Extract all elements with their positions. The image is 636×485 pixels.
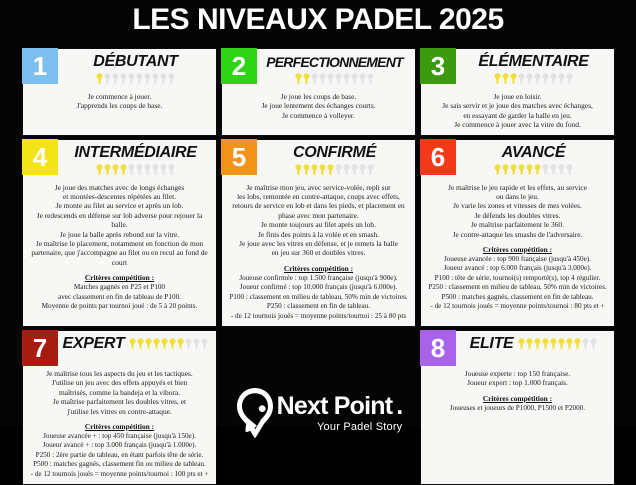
criteria-line: P500 : matches gagnés, classement en fin… xyxy=(426,293,609,302)
level-number-badge: 7 xyxy=(22,330,58,366)
description-line: Joueuse experte : top 150 française. xyxy=(426,369,609,378)
logo-text: Next Point. Your Padel Story xyxy=(277,394,403,433)
card-title-block: EXPERT xyxy=(58,335,211,353)
card-header: 6 AVANCÉ xyxy=(426,144,609,180)
level-number-badge: 5 xyxy=(221,139,257,175)
description-line: Je finis des points à la volée et en sma… xyxy=(227,230,410,239)
card-header: 3 ÉLÉMENTAIRE xyxy=(426,53,609,89)
level-name: ÉLÉMENTAIRE xyxy=(458,53,609,71)
card-title-block: ÉLÉMENTAIRE xyxy=(456,53,609,89)
criteria-title: Critères compétition : xyxy=(28,422,211,432)
card-header: 7 EXPERT xyxy=(28,335,211,366)
rating-pins-8 xyxy=(518,338,597,349)
level-description: Je joue en loisir.Je sais servir et je j… xyxy=(426,92,609,130)
criteria-line: - de 12 tournois joués = moyenne points/… xyxy=(227,312,410,321)
description-line: Je défends les doubles vitres. xyxy=(426,211,609,220)
rating-pins-3 xyxy=(494,73,573,84)
page-title: LES NIVEAUX PADEL 2025 xyxy=(0,2,636,38)
description-line: en jeu sur 360 et doubles vitres. xyxy=(227,248,410,257)
brand-logo: Next Point. Your Padel Story xyxy=(221,330,416,485)
level-description: Joueuse experte : top 150 française.Joue… xyxy=(426,369,609,388)
description-line: Je maîtrise tous les aspects du jeu et l… xyxy=(28,369,211,378)
description-line: Je maîtrise le jeu rapide et les effets,… xyxy=(426,183,609,192)
criteria-line: Joueuse avancée + : top 450 française (j… xyxy=(28,432,211,441)
logo-name: Next Point xyxy=(277,392,393,420)
card-title-block: DÉBUTANT xyxy=(58,53,211,89)
criteria-title: Critères compétition : xyxy=(28,273,211,283)
criteria-line: P250 : 2ère partie de tableau, en étant … xyxy=(28,451,211,460)
title-rating-row: ELITE xyxy=(458,335,609,353)
criteria-line: Joueur confirmé : top 10.000 français (j… xyxy=(227,283,410,292)
card-title-block: AVANCÉ xyxy=(456,144,609,180)
level-description: Je maîtrise tous les aspects du jeu et l… xyxy=(28,369,211,416)
padel-racket-pin-icon xyxy=(235,387,275,439)
description-line: Je maîtrise mon jeu, avec service-volée,… xyxy=(227,183,410,192)
title-rating-row: EXPERT xyxy=(60,335,211,353)
criteria-line: Joueuse avancée : top 900 française (jus… xyxy=(426,255,609,264)
card-title-block: ELITE xyxy=(456,335,609,353)
description-line: Je maîtrise le placement, notamment en f… xyxy=(28,239,211,248)
criteria-line: Moyenne de points par tournoi joué : de … xyxy=(28,302,211,311)
level-name: PERFECTIONNEMENT xyxy=(259,53,410,71)
level-description: Je maîtrise le jeu rapide et les effets,… xyxy=(426,183,609,239)
description-line: phase avec mon partenaire. xyxy=(227,211,410,220)
level-name: ELITE xyxy=(470,335,514,353)
level-number-badge: 8 xyxy=(420,330,456,366)
rating-pins-2 xyxy=(295,73,374,84)
level-description: Je joue des matches avec de longs échang… xyxy=(28,183,211,268)
card-header: 4 INTERMÉDIAIRE xyxy=(28,144,211,180)
criteria-list: Joueuses et joueurs de P1000, P1500 et P… xyxy=(426,404,609,413)
description-line: Je varie les zones et vitesses de mes vo… xyxy=(426,201,609,210)
description-line: Je joue lentement des échanges courts. xyxy=(227,101,410,110)
level-card-8: 8 ELITE Joueuse experte : top 150 frança… xyxy=(420,330,615,485)
card-header: 5 CONFIRMÉ xyxy=(227,144,410,180)
description-line: partenaire, que j'accompagne au filet ou… xyxy=(28,248,211,257)
description-line: et montées-descentes répétées au filet. xyxy=(28,192,211,201)
description-line: Je maîtrise parfaitement les doubles vit… xyxy=(28,397,211,406)
description-line: Je monte au filet au service et après un… xyxy=(28,201,211,210)
level-card-3: 3 ÉLÉMENTAIRE Je joue en loisir.Je sais … xyxy=(420,48,615,136)
rating-pins-5 xyxy=(295,164,374,175)
level-name: EXPERT xyxy=(63,335,125,353)
criteria-line: avec classement en fin de tableau de P10… xyxy=(28,293,211,302)
description-line: J'utilise un jeu avec des effets appuyés… xyxy=(28,378,211,387)
criteria-title: Critères compétition : xyxy=(426,245,609,255)
card-header: 1 DÉBUTANT xyxy=(28,53,211,89)
criteria-line: P250 : classement en milieu de tableau, … xyxy=(426,283,609,292)
level-number-badge: 4 xyxy=(22,139,58,175)
description-line: Je joue avec les vitres en défense, et j… xyxy=(227,239,410,248)
description-line: j'utilise les vitres en contre-attaque. xyxy=(28,407,211,416)
criteria-line: Joueuse confirmée : top 1.500 française … xyxy=(227,274,410,283)
logo-dot: . xyxy=(396,392,402,420)
level-number-badge: 1 xyxy=(22,48,58,84)
level-description: Je maîtrise mon jeu, avec service-volée,… xyxy=(227,183,410,258)
card-header: 8 ELITE xyxy=(426,335,609,366)
level-card-6: 6 AVANCÉ Je maîtrise le jeu rapide et le… xyxy=(420,139,615,327)
level-name: CONFIRMÉ xyxy=(259,144,410,162)
description-line: Je commence à jouer. xyxy=(28,92,211,101)
description-line: Je redescends en défense sur lob adverse… xyxy=(28,211,211,230)
criteria-line: Matches gagnés en P25 et P100 xyxy=(28,283,211,292)
description-line: retours de service en lob et dans les pi… xyxy=(227,201,410,210)
description-line: court xyxy=(28,258,211,267)
criteria-list: Joueuse avancée + : top 450 française (j… xyxy=(28,432,211,479)
description-line: maîtrisés, comme la bandeja et la vibora… xyxy=(28,388,211,397)
description-line: Je maîtrise parfaitement le 360. xyxy=(426,220,609,229)
description-line: Je joue en loisir. xyxy=(426,92,609,101)
description-line: en essayant de garder la balle en jeu. xyxy=(426,111,609,120)
criteria-line: Joueuses et joueurs de P1000, P1500 et P… xyxy=(426,404,609,413)
level-card-7: 7 EXPERT Je maîtrise tous les aspects du… xyxy=(22,330,217,485)
criteria-title: Critères compétition : xyxy=(227,264,410,274)
level-card-5: 5 CONFIRMÉ Je maîtrise mon jeu, avec ser… xyxy=(221,139,416,327)
rating-pins-4 xyxy=(96,164,175,175)
level-number-badge: 2 xyxy=(221,48,257,84)
criteria-line: Joueur avancé : top 6.000 français (jusq… xyxy=(426,264,609,273)
level-description: Je commence à jouer.J'apprends les coups… xyxy=(28,92,211,111)
criteria-line: P100 : tête de série, tournoi(s) remport… xyxy=(426,274,609,283)
card-title-block: CONFIRMÉ xyxy=(257,144,410,180)
card-title-block: PERFECTIONNEMENT xyxy=(257,53,410,89)
description-line: Je joue la balle après rebond sur la vit… xyxy=(28,230,211,239)
criteria-line: P250 : classement en fin de tableau. xyxy=(227,302,410,311)
description-line: Je joue les coups de base. xyxy=(227,92,410,101)
criteria-line: Joueur avancé + : top 3.000 français (ju… xyxy=(28,441,211,450)
description-line: Je commence à volleyer. xyxy=(227,111,410,120)
level-card-4: 4 INTERMÉDIAIRE Je joue des matches avec… xyxy=(22,139,217,327)
rating-pins-7 xyxy=(129,338,208,349)
description-line: Je monte toujours au filet après un lob. xyxy=(227,220,410,229)
level-description: Je joue les coups de base.Je joue lentem… xyxy=(227,92,410,120)
description-line: ou dans le jeu. xyxy=(426,192,609,201)
criteria-list: Joueuse avancée : top 900 française (jus… xyxy=(426,255,609,311)
criteria-line: P100 : classement en milieu de tableau, … xyxy=(227,293,410,302)
description-line: Je sais servir et je joue des matches av… xyxy=(426,101,609,110)
level-card-1: 1 DÉBUTANT Je commence à jouer.J'apprend… xyxy=(22,48,217,136)
criteria-line: P500 : matches gagnés, classement fin ou… xyxy=(28,460,211,469)
card-title-block: INTERMÉDIAIRE xyxy=(58,144,211,180)
description-line: Je commence à jouer avec la vitre du fon… xyxy=(426,120,609,129)
level-name: INTERMÉDIAIRE xyxy=(60,144,211,162)
logo-wrap: Next Point. Your Padel Story xyxy=(235,387,403,439)
criteria-list: Matches gagnés en P25 et P100avec classe… xyxy=(28,283,211,311)
logo-name-row: Next Point. xyxy=(277,394,403,419)
card-header: 2 PERFECTIONNEMENT xyxy=(227,53,410,89)
level-card-2: 2 PERFECTIONNEMENT Je joue les coups de … xyxy=(221,48,416,136)
description-line: Je contre-attaque les smashs de l'advers… xyxy=(426,230,609,239)
description-line: J'apprends les coups de base. xyxy=(28,101,211,110)
description-line: les lobs, remontée en contre-attaque, co… xyxy=(227,192,410,201)
rating-pins-1 xyxy=(96,73,175,84)
criteria-line: - de 12 tournois joués = moyenne points/… xyxy=(426,302,609,311)
criteria-line: - de 12 tournois joués = moyenne points/… xyxy=(28,470,211,479)
logo-tagline: Your Padel Story xyxy=(317,422,402,433)
rating-pins-6 xyxy=(494,164,573,175)
description-line: Joueur expert : top 1.000 français. xyxy=(426,378,609,387)
level-number-badge: 6 xyxy=(420,139,456,175)
level-name: AVANCÉ xyxy=(458,144,609,162)
level-name: DÉBUTANT xyxy=(60,53,211,71)
level-number-badge: 3 xyxy=(420,48,456,84)
criteria-list: Joueuse confirmée : top 1.500 française … xyxy=(227,274,410,321)
levels-grid: 1 DÉBUTANT Je commence à jouer.J'apprend… xyxy=(22,48,616,485)
description-line: Je joue des matches avec de longs échang… xyxy=(28,183,211,192)
criteria-title: Critères compétition : xyxy=(426,394,609,404)
poster-root: LES NIVEAUX PADEL 2025 1 DÉBUTANT Je com… xyxy=(0,0,636,426)
